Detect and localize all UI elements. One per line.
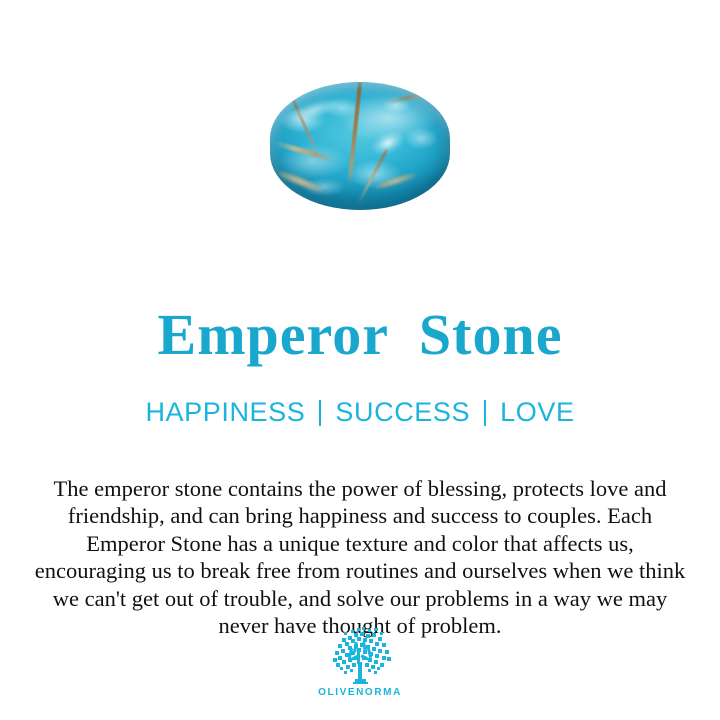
emperor-stone-image — [270, 82, 450, 210]
keyword-love: LOVE — [500, 396, 574, 428]
page-title: Emperor Stone — [0, 303, 720, 367]
keyword-happiness: HAPPINESS — [145, 396, 305, 428]
brand-name: OLIVENORMA — [318, 687, 402, 698]
stone-image-container — [0, 80, 720, 212]
product-description: The emperor stone contains the power of … — [32, 475, 688, 640]
product-info-card: Emperor Stone HAPPINESS SUCCESS LOVE The… — [0, 0, 720, 720]
brand-logo: OLIVENORMA — [0, 626, 720, 698]
keyword-separator — [319, 400, 321, 426]
keyword-list: HAPPINESS SUCCESS LOVE — [0, 396, 720, 428]
keyword-success: SUCCESS — [335, 396, 470, 428]
tree-icon — [324, 626, 396, 684]
keyword-separator — [484, 400, 486, 426]
